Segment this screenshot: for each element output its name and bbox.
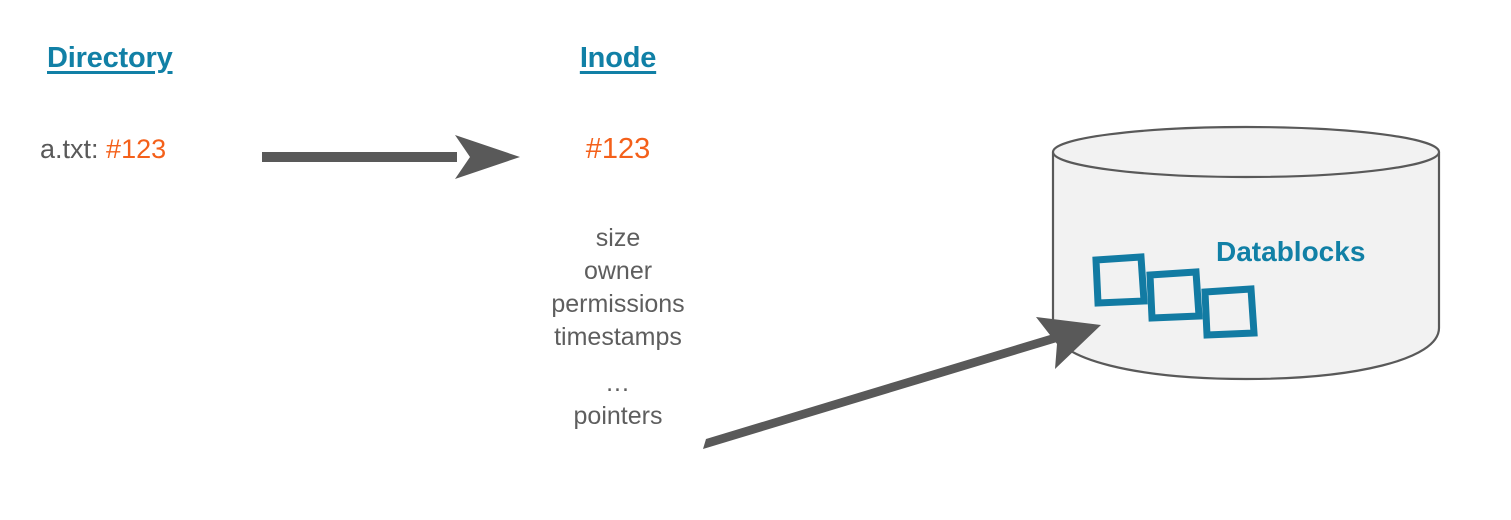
directory-entry-inode-number: #123	[106, 134, 166, 164]
directory-entry: a.txt: #123	[40, 134, 166, 165]
inode-field-owner: owner	[470, 255, 766, 288]
directory-entry-name: a.txt:	[40, 134, 99, 164]
directory-to-inode-arrow	[262, 135, 520, 179]
datablocks-label: Datablocks	[1216, 236, 1365, 268]
inode-field-timestamps: timestamps	[470, 321, 766, 354]
diagram-canvas: Directory a.txt: #123 Inode #123 size ow…	[0, 0, 1511, 520]
cylinder-top	[1053, 127, 1439, 177]
directory-heading: Directory	[47, 42, 173, 75]
inode-number: #123	[520, 133, 716, 166]
arrow2-head	[1036, 317, 1101, 369]
arrow1-shaft	[262, 152, 457, 162]
datablock-square-3	[1205, 289, 1254, 335]
inode-heading: Inode	[520, 42, 716, 75]
datablock-square-1	[1096, 257, 1144, 303]
inode-field-size: size	[470, 222, 766, 255]
inode-field-pointers: pointers	[470, 400, 766, 433]
inode-field-permissions: permissions	[470, 288, 766, 321]
datablock-square-2	[1150, 272, 1199, 318]
inode-field-list: size owner permissions timestamps ... po…	[470, 222, 766, 433]
inode-field-spacer	[470, 354, 766, 367]
arrow1-head	[455, 135, 520, 179]
inode-field-ellipsis: ...	[470, 367, 766, 400]
datablock-squares	[1096, 257, 1254, 335]
